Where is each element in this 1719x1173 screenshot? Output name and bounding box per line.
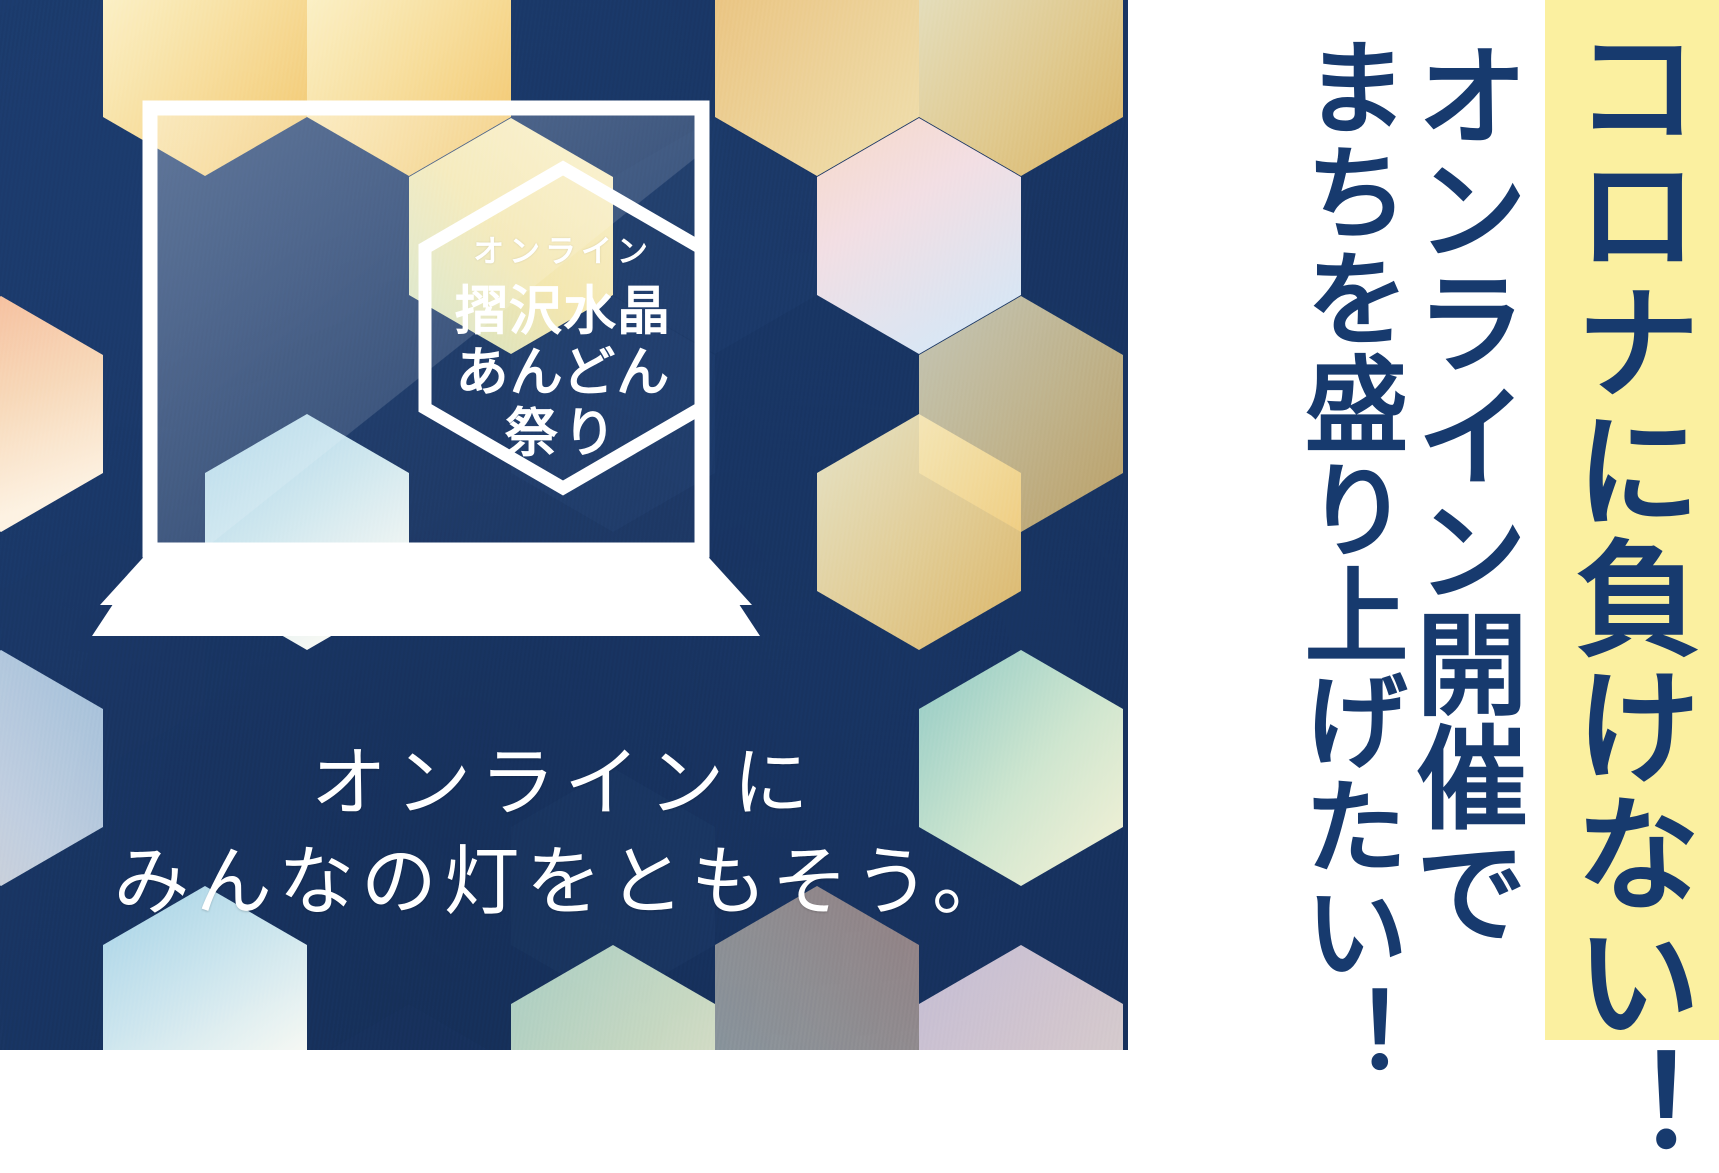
tagline-line-2: みんなの灯をともそう。 xyxy=(0,834,1128,933)
vertical-headline-2: オンライン開催で xyxy=(1405,38,1519,947)
vertical-headline-3: まちを盛り上げたい！ xyxy=(1293,34,1399,1090)
tagline: オンラインに みんなの灯をともそう。 xyxy=(0,735,1128,933)
hexagon-badge-icon xyxy=(383,160,743,505)
vertical-copy-panel: コロナに負けない！ オンライン開催で まちを盛り上げたい！ xyxy=(1128,0,1719,1152)
artwork-panel: オンライン 摺沢水晶 あんどん 祭り オンラインに みんなの灯をともそう。 xyxy=(0,0,1128,1050)
poster-root: オンライン 摺沢水晶 あんどん 祭り オンラインに みんなの灯をともそう。 コロ… xyxy=(0,0,1719,1152)
tagline-line-1: オンラインに xyxy=(0,735,1128,834)
vertical-headline-1: コロナに負けない！ xyxy=(1562,22,1691,1173)
festival-logo: オンライン 摺沢水晶 あんどん 祭り xyxy=(383,160,743,505)
